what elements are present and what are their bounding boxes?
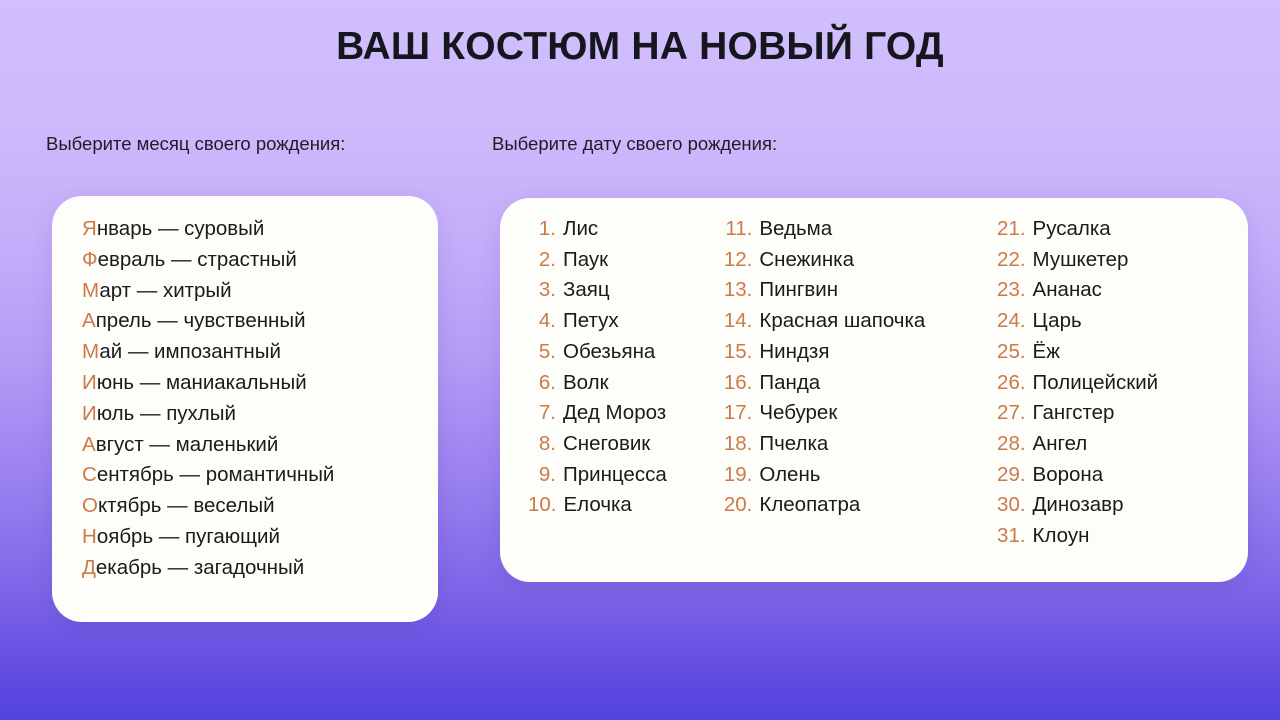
date-row[interactable]: 15.Ниндзя <box>720 337 993 368</box>
date-label: Клоун <box>1033 524 1090 547</box>
date-number: 28. <box>994 429 1026 460</box>
month-label: юль — пухлый <box>97 402 236 425</box>
month-row[interactable]: Август — маленький <box>82 430 422 461</box>
month-label: ай — импозантный <box>99 340 281 363</box>
date-label: Гангстер <box>1033 401 1115 424</box>
date-label: Красная шапочка <box>759 309 925 332</box>
month-initial: О <box>82 494 98 517</box>
date-label: Дед Мороз <box>563 401 666 424</box>
month-initial: Я <box>82 217 97 240</box>
date-row[interactable]: 17.Чебурек <box>720 398 993 429</box>
month-initial: М <box>82 340 99 363</box>
date-row[interactable]: 5.Обезьяна <box>528 337 720 368</box>
date-row[interactable]: 13.Пингвин <box>720 275 993 306</box>
dates-column-3: 21.Русалка22.Мушкетер23.Ананас24.Царь25.… <box>994 214 1234 552</box>
date-row[interactable]: 27.Гангстер <box>994 398 1234 429</box>
dates-columns: 1.Лис2.Паук3.Заяц4.Петух5.Обезьяна6.Волк… <box>528 214 1234 552</box>
date-row[interactable]: 30.Динозавр <box>994 490 1234 521</box>
date-label: Снежинка <box>759 248 854 271</box>
date-row[interactable]: 3.Заяц <box>528 275 720 306</box>
date-number: 21. <box>994 214 1026 245</box>
date-number: 31. <box>994 521 1026 552</box>
date-label: Русалка <box>1033 217 1111 240</box>
months-card: Январь — суровыйФевраль — страстныйМарт … <box>52 196 438 622</box>
date-number: 1. <box>528 214 556 245</box>
date-number: 15. <box>720 337 752 368</box>
date-row[interactable]: 1.Лис <box>528 214 720 245</box>
date-number: 12. <box>720 245 752 276</box>
date-label: Панда <box>759 371 820 394</box>
date-label: Олень <box>759 463 820 486</box>
date-label: Ананас <box>1033 278 1102 301</box>
date-number: 8. <box>528 429 556 460</box>
date-label: Чебурек <box>759 401 837 424</box>
month-label: арт — хитрый <box>99 279 231 302</box>
month-initial: Ф <box>82 248 98 271</box>
date-number: 24. <box>994 306 1026 337</box>
month-label: евраль — страстный <box>98 248 297 271</box>
month-row[interactable]: Декабрь — загадочный <box>82 553 422 584</box>
month-initial: Н <box>82 525 97 548</box>
month-label: юнь — маниакальный <box>97 371 307 394</box>
date-number: 20. <box>720 490 752 521</box>
month-label: вгуст — маленький <box>96 433 279 456</box>
date-label: Пчелка <box>759 432 828 455</box>
date-row[interactable]: 9.Принцесса <box>528 460 720 491</box>
month-label: ентябрь — романтичный <box>97 463 335 486</box>
date-row[interactable]: 29.Ворона <box>994 460 1234 491</box>
date-row[interactable]: 31.Клоун <box>994 521 1234 552</box>
date-number: 14. <box>720 306 752 337</box>
date-number: 22. <box>994 245 1026 276</box>
date-label: Обезьяна <box>563 340 655 363</box>
date-row[interactable]: 6.Волк <box>528 368 720 399</box>
date-label: Мушкетер <box>1033 248 1129 271</box>
slide-root: ВАШ КОСТЮМ НА НОВЫЙ ГОД Выберите месяц с… <box>0 0 1280 720</box>
months-list: Январь — суровыйФевраль — страстныйМарт … <box>82 214 422 584</box>
date-row[interactable]: 28.Ангел <box>994 429 1234 460</box>
month-row[interactable]: Июнь — маниакальный <box>82 368 422 399</box>
date-row[interactable]: 21.Русалка <box>994 214 1234 245</box>
date-row[interactable]: 7.Дед Мороз <box>528 398 720 429</box>
page-title: ВАШ КОСТЮМ НА НОВЫЙ ГОД <box>0 24 1280 71</box>
date-number: 5. <box>528 337 556 368</box>
date-number: 23. <box>994 275 1026 306</box>
month-label: екабрь — загадочный <box>96 556 304 579</box>
date-number: 29. <box>994 460 1026 491</box>
date-label: Ниндзя <box>759 340 829 363</box>
date-row[interactable]: 23.Ананас <box>994 275 1234 306</box>
date-label: Ёж <box>1033 340 1060 363</box>
date-label: Ворона <box>1033 463 1104 486</box>
month-row[interactable]: Сентябрь — романтичный <box>82 460 422 491</box>
date-number: 25. <box>994 337 1026 368</box>
date-label: Паук <box>563 248 608 271</box>
month-row[interactable]: Октябрь — веселый <box>82 491 422 522</box>
date-row[interactable]: 4.Петух <box>528 306 720 337</box>
date-number: 3. <box>528 275 556 306</box>
date-row[interactable]: 18.Пчелка <box>720 429 993 460</box>
date-number: 30. <box>994 490 1026 521</box>
date-label: Полицейский <box>1033 371 1159 394</box>
dates-column-1: 1.Лис2.Паук3.Заяц4.Петух5.Обезьяна6.Волк… <box>528 214 720 552</box>
dates-card: 1.Лис2.Паук3.Заяц4.Петух5.Обезьяна6.Волк… <box>500 198 1248 582</box>
date-label: Ведьма <box>759 217 832 240</box>
month-row[interactable]: Апрель — чувственный <box>82 306 422 337</box>
month-row[interactable]: Март — хитрый <box>82 276 422 307</box>
month-initial: И <box>82 402 97 425</box>
date-row[interactable]: 24.Царь <box>994 306 1234 337</box>
date-number: 16. <box>720 368 752 399</box>
date-row[interactable]: 14.Красная шапочка <box>720 306 993 337</box>
date-number: 18. <box>720 429 752 460</box>
date-label: Клеопатра <box>759 493 860 516</box>
month-initial: М <box>82 279 99 302</box>
date-label: Динозавр <box>1033 493 1124 516</box>
date-number: 26. <box>994 368 1026 399</box>
date-row[interactable]: 22.Мушкетер <box>994 245 1234 276</box>
month-initial: С <box>82 463 97 486</box>
date-row[interactable]: 25.Ёж <box>994 337 1234 368</box>
date-row[interactable]: 11.Ведьма <box>720 214 993 245</box>
date-row[interactable]: 19.Олень <box>720 460 993 491</box>
date-number: 11. <box>720 214 752 245</box>
month-initial: И <box>82 371 97 394</box>
dates-section-label: Выберите дату своего рождения: <box>492 133 777 155</box>
month-initial: А <box>82 309 96 332</box>
date-row[interactable]: 20.Клеопатра <box>720 490 993 521</box>
date-row[interactable]: 2.Паук <box>528 245 720 276</box>
date-label: Царь <box>1033 309 1082 332</box>
date-number: 4. <box>528 306 556 337</box>
date-label: Пингвин <box>759 278 838 301</box>
date-number: 9. <box>528 460 556 491</box>
date-label: Лис <box>563 217 598 240</box>
month-row[interactable]: Июль — пухлый <box>82 399 422 430</box>
month-initial: А <box>82 433 96 456</box>
date-number: 19. <box>720 460 752 491</box>
month-row[interactable]: Февраль — страстный <box>82 245 422 276</box>
date-number: 2. <box>528 245 556 276</box>
date-row[interactable]: 16.Панда <box>720 368 993 399</box>
date-label: Ангел <box>1033 432 1088 455</box>
date-row[interactable]: 12.Снежинка <box>720 245 993 276</box>
date-number: 27. <box>994 398 1026 429</box>
month-row[interactable]: Ноябрь — пугающий <box>82 522 422 553</box>
month-row[interactable]: Январь — суровый <box>82 214 422 245</box>
date-label: Петух <box>563 309 619 332</box>
date-number: 13. <box>720 275 752 306</box>
date-label: Принцесса <box>563 463 667 486</box>
date-row[interactable]: 8.Снеговик <box>528 429 720 460</box>
date-number: 7. <box>528 398 556 429</box>
date-label: Елочка <box>564 493 632 516</box>
date-number: 6. <box>528 368 556 399</box>
date-label: Заяц <box>563 278 610 301</box>
months-section-label: Выберите месяц своего рождения: <box>46 133 345 155</box>
month-initial: Д <box>82 556 96 579</box>
month-label: оябрь — пугающий <box>97 525 280 548</box>
month-label: прель — чувственный <box>96 309 306 332</box>
month-label: нварь — суровый <box>97 217 265 240</box>
date-number: 10. <box>528 490 557 521</box>
dates-column-2: 11.Ведьма12.Снежинка13.Пингвин14.Красная… <box>720 214 993 552</box>
date-label: Снеговик <box>563 432 650 455</box>
month-label: ктябрь — веселый <box>98 494 275 517</box>
date-row[interactable]: 10.Елочка <box>528 490 720 521</box>
date-row[interactable]: 26.Полицейский <box>994 368 1234 399</box>
date-label: Волк <box>563 371 609 394</box>
date-number: 17. <box>720 398 752 429</box>
month-row[interactable]: Май — импозантный <box>82 337 422 368</box>
